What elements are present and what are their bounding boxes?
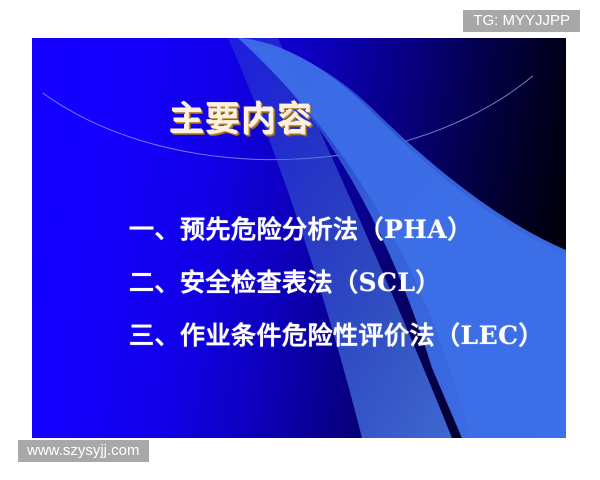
page-title: 主要内容 xyxy=(32,92,452,141)
watermark-top-right: TG: MYYJJPP xyxy=(463,10,580,32)
list-item: 三、作业条件危险性评价法（LEC） xyxy=(129,309,566,362)
watermark-bottom-left: www.szysyjj.com xyxy=(18,440,149,462)
page-canvas: 主要内容 一、预先危险分析法（PHA） 二、安全检查表法（SCL） 三、作业条件… xyxy=(0,0,600,480)
list-item: 二、安全检查表法（SCL） xyxy=(129,256,566,309)
bullet-list: 一、预先危险分析法（PHA） 二、安全检查表法（SCL） 三、作业条件危险性评价… xyxy=(129,203,566,362)
list-item: 一、预先危险分析法（PHA） xyxy=(129,203,566,256)
presentation-slide: 主要内容 一、预先危险分析法（PHA） 二、安全检查表法（SCL） 三、作业条件… xyxy=(32,38,566,438)
